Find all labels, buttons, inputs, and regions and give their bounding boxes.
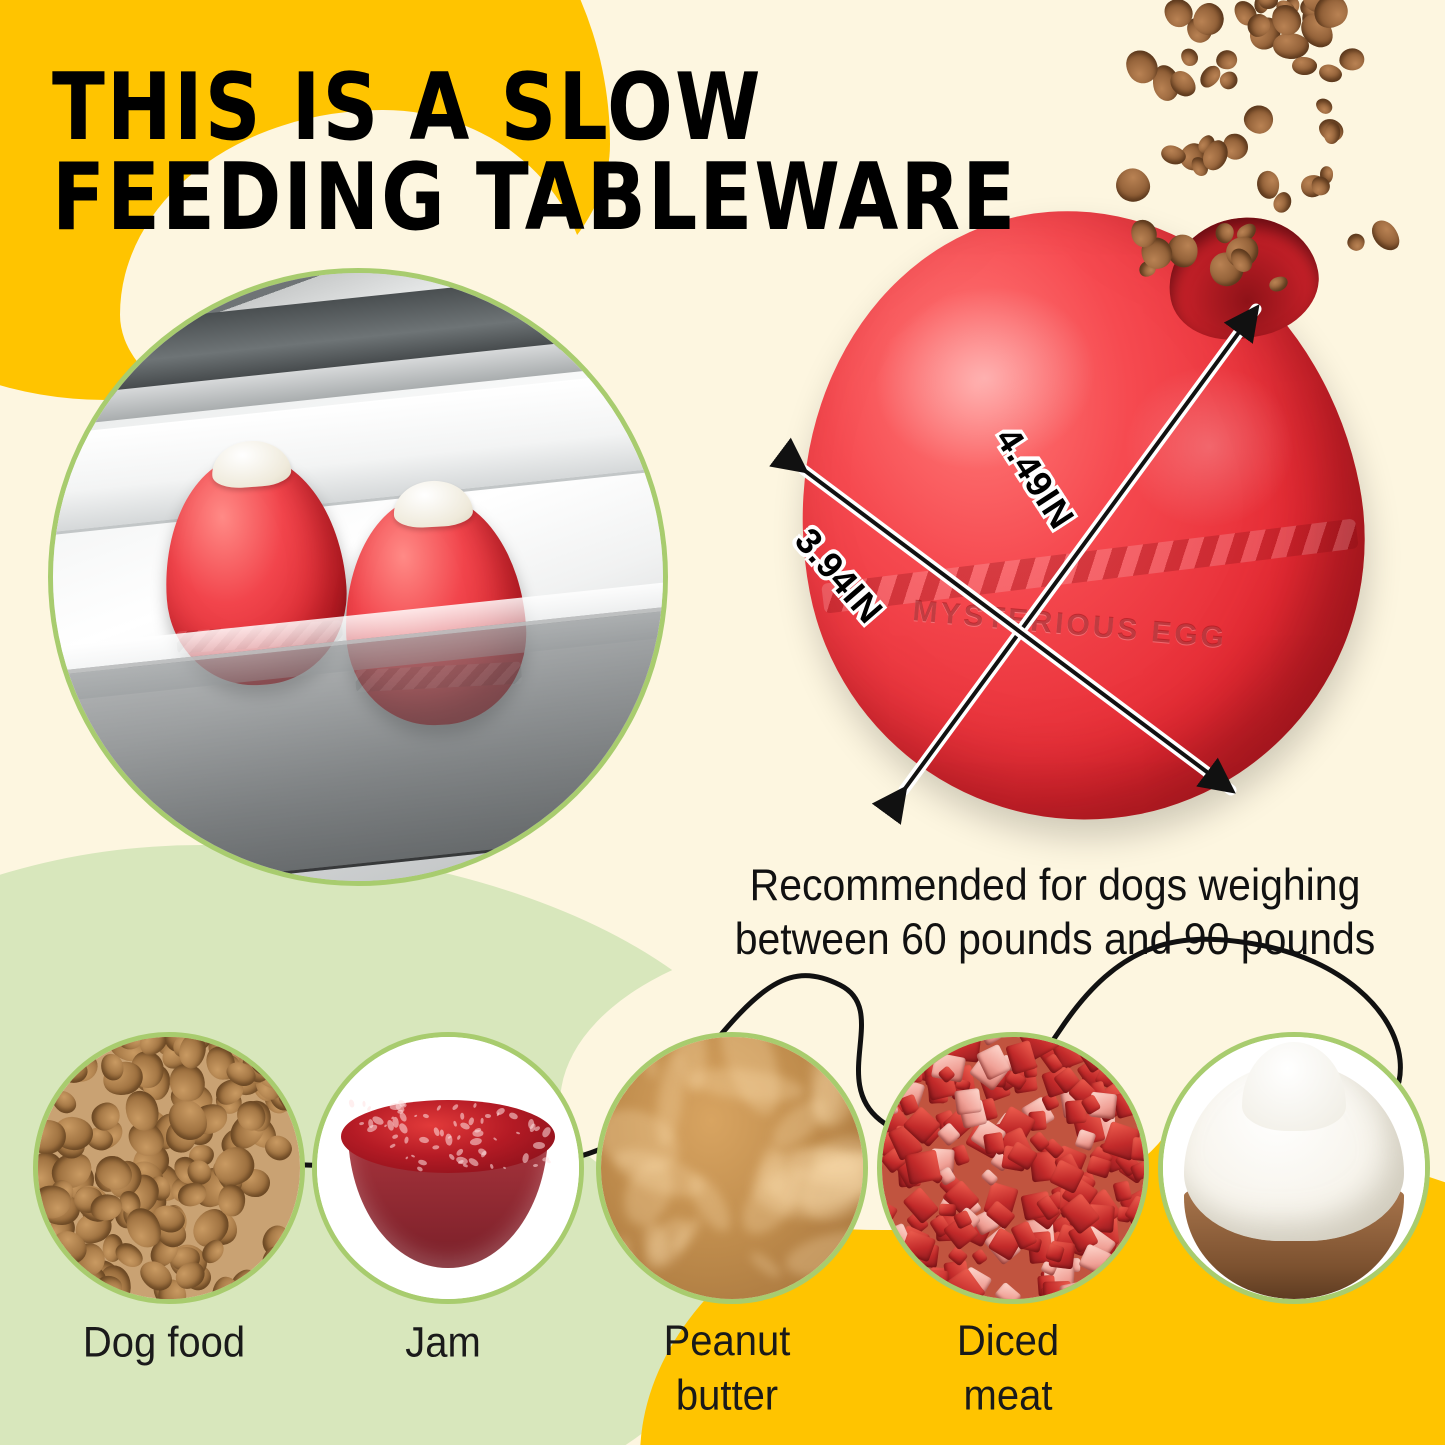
- kibble-piece: [217, 1184, 246, 1217]
- egg-highlight-secondary: [1112, 353, 1307, 541]
- falling-kibble-piece: [1272, 32, 1309, 60]
- food-label-peanut-butter-line2: butter: [596, 1369, 858, 1423]
- meat-cube: [1112, 1180, 1132, 1202]
- falling-kibble-piece: [1267, 274, 1290, 294]
- cream-peak: [1242, 1042, 1347, 1131]
- jam-seed: [413, 1114, 417, 1117]
- recommendation-text: Recommended for dogs weighing between 60…: [690, 858, 1420, 966]
- jam-seed: [528, 1118, 535, 1129]
- food-label-diced-meat: Diced meat: [877, 1315, 1139, 1424]
- meat-cube: [904, 1061, 922, 1082]
- falling-kibble-piece: [1345, 232, 1366, 253]
- jam-surface: [341, 1100, 556, 1173]
- meat-cube: [954, 1088, 982, 1115]
- fridge-photo-circle: [48, 268, 668, 886]
- jam-seed: [492, 1137, 497, 1141]
- meat-cube: [1127, 1285, 1145, 1302]
- food-circle-peanut-butter: [596, 1032, 868, 1304]
- jam-seed: [473, 1103, 478, 1109]
- jam-seed: [359, 1122, 365, 1126]
- dog-food-kibble-pile: [38, 1037, 300, 1299]
- headline-line-2: FEEDING TABLEWARE: [52, 153, 1082, 244]
- jam-seed: [423, 1114, 430, 1119]
- meat-cube: [971, 1248, 989, 1266]
- meat-cube: [880, 1046, 907, 1077]
- jam-seed: [470, 1137, 483, 1146]
- jam-seed: [480, 1118, 484, 1124]
- jam-seed: [439, 1129, 444, 1137]
- jam-seed: [515, 1131, 519, 1135]
- jam-seed: [456, 1135, 461, 1141]
- infographic-canvas: THIS IS A SLOW FEEDING TABLEWARE MYSTERI…: [0, 0, 1445, 1445]
- falling-kibble-piece: [1215, 49, 1238, 70]
- food-label-peanut-butter: Peanut butter: [596, 1315, 858, 1424]
- meat-cube: [983, 1132, 1005, 1155]
- jam-seed: [362, 1101, 366, 1107]
- meat-cube: [1131, 1137, 1149, 1163]
- food-label-peanut-butter-line1: Peanut: [596, 1315, 858, 1369]
- peanut-butter-photo: [601, 1037, 863, 1299]
- diced-meat-photo: [882, 1037, 1144, 1299]
- jam-seed: [404, 1136, 409, 1143]
- jam-seed: [452, 1103, 460, 1111]
- recommendation-line-2: between 60 pounds and 90 pounds: [690, 912, 1420, 966]
- headline: THIS IS A SLOW FEEDING TABLEWARE: [52, 62, 1082, 244]
- food-circle-dog-food: [33, 1032, 305, 1304]
- jam-seed: [541, 1126, 553, 1139]
- recommendation-line-1: Recommended for dogs weighing: [690, 858, 1420, 912]
- jam-seed: [348, 1099, 354, 1107]
- egg-highlight-primary: [858, 267, 1113, 489]
- jam-seed: [447, 1153, 455, 1162]
- falling-kibble-piece: [1314, 95, 1336, 116]
- jam-seed: [508, 1112, 519, 1121]
- jam-seed: [462, 1163, 467, 1167]
- jam-seed: [533, 1142, 545, 1149]
- jam-seed: [397, 1110, 403, 1114]
- jam-seed: [467, 1117, 474, 1127]
- jam-seed: [436, 1104, 442, 1111]
- jam-seed: [405, 1156, 409, 1160]
- cream-photo: [1163, 1037, 1425, 1299]
- peanut-butter-swirl: [747, 1249, 784, 1281]
- jam-seed: [452, 1121, 457, 1128]
- jam-seed: [390, 1143, 396, 1149]
- falling-kibble-piece: [1339, 48, 1365, 71]
- kibble-piece: [34, 1072, 54, 1098]
- jam-photo: [317, 1037, 579, 1299]
- food-circle-diced-meat: [877, 1032, 1149, 1304]
- jam-seed: [460, 1113, 464, 1120]
- jam-seed: [416, 1165, 423, 1171]
- peanut-butter-swirl: [616, 1237, 632, 1285]
- meat-cube: [895, 1275, 909, 1289]
- jam-seed: [432, 1144, 440, 1149]
- jam-seed: [367, 1106, 372, 1111]
- jam-seed: [411, 1154, 415, 1158]
- food-circle-cream: [1158, 1032, 1430, 1304]
- egg-zigzag-seam: [821, 518, 1358, 613]
- meat-cube: [994, 1282, 1022, 1304]
- food-label-diced-meat-line2: meat: [877, 1369, 1139, 1423]
- peanut-butter-swirl: [651, 1050, 688, 1149]
- falling-kibble-piece: [1292, 56, 1318, 76]
- peanut-butter-swirl: [642, 1047, 659, 1080]
- food-label-jam: Jam: [312, 1316, 574, 1370]
- peanut-butter-swirl: [781, 1222, 868, 1285]
- falling-kibble-group: [1120, 0, 1445, 320]
- jam-seed: [467, 1157, 480, 1168]
- falling-kibble-piece: [1241, 101, 1277, 137]
- jam-seed: [392, 1134, 399, 1140]
- jam-seed: [485, 1114, 491, 1118]
- jam-seed: [490, 1163, 495, 1169]
- egg-emboss-text: MYSTERIOUS EGG: [911, 594, 1293, 661]
- food-label-dog-food: Dog food: [33, 1316, 295, 1370]
- meat-cube: [905, 1149, 942, 1184]
- headline-line-1: THIS IS A SLOW: [52, 62, 1082, 153]
- jam-seed: [398, 1122, 410, 1135]
- food-circle-jam: [312, 1032, 584, 1304]
- falling-kibble-piece: [1178, 45, 1201, 69]
- falling-kibble-piece: [1366, 215, 1404, 255]
- food-label-diced-meat-line1: Diced: [877, 1315, 1139, 1369]
- jam-seed: [418, 1136, 429, 1144]
